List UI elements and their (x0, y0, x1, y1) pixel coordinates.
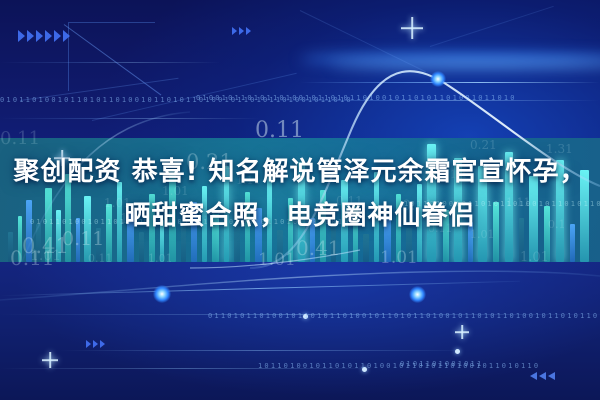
glow-orb (430, 71, 446, 87)
chevron-arrow-group (86, 340, 105, 348)
chevron-right-icon (232, 27, 237, 35)
sparkle-icon (455, 325, 469, 339)
chevron-right-icon (36, 30, 43, 42)
sparkle-icon (401, 17, 423, 39)
chevron-right-icon (45, 30, 52, 42)
circuit-trace (430, 6, 554, 47)
chevron-right-icon (246, 27, 251, 35)
chevron-arrow-group (18, 30, 70, 42)
data-line (0, 281, 520, 297)
chevron-right-icon (86, 340, 91, 348)
binary-data-row: 0101101001011 (400, 360, 483, 368)
data-point (455, 349, 460, 354)
chevron-right-icon (93, 340, 98, 348)
chevron-right-icon (100, 340, 105, 348)
binary-data-row: 0110101101001011010110100101101011010010… (208, 312, 599, 320)
chevron-right-icon (530, 372, 537, 380)
glow-orb (409, 286, 426, 303)
chevron-right-icon (63, 30, 70, 42)
data-line (60, 350, 460, 351)
banner-image: 聚创配资 恭喜! 知名解说管泽元余霜官宣怀孕， 晒甜蜜合照，电竞圈神仙眷侣 0.… (0, 0, 600, 400)
chevron-right-icon (539, 372, 546, 380)
chevron-right-icon (548, 372, 555, 380)
tech-line (300, 82, 600, 83)
tech-line (0, 118, 260, 119)
glow-orb (153, 285, 171, 303)
chevron-arrow-group (232, 27, 251, 35)
chevron-right-icon (27, 30, 34, 42)
headline-line-1: 聚创配资 恭喜! 知名解说管泽元余霜官宣怀孕， (0, 150, 600, 194)
headline-line-2: 晒甜蜜合照，电竞圈神仙眷侣 (0, 194, 600, 238)
top-tech-background (0, 0, 600, 140)
headline: 聚创配资 恭喜! 知名解说管泽元余霜官宣怀孕， 晒甜蜜合照，电竞圈神仙眷侣 (0, 150, 600, 238)
sparkle-icon (42, 352, 58, 368)
chart-bar (363, 234, 369, 262)
chevron-right-icon (54, 30, 61, 42)
bottom-background (0, 262, 600, 400)
binary-data-row: 0101101001011010110100101101011010010110… (0, 96, 353, 104)
chevron-arrow-group (530, 372, 555, 380)
chevron-right-icon (239, 27, 244, 35)
chevron-right-icon (18, 30, 25, 42)
glow-streak (330, 62, 600, 67)
